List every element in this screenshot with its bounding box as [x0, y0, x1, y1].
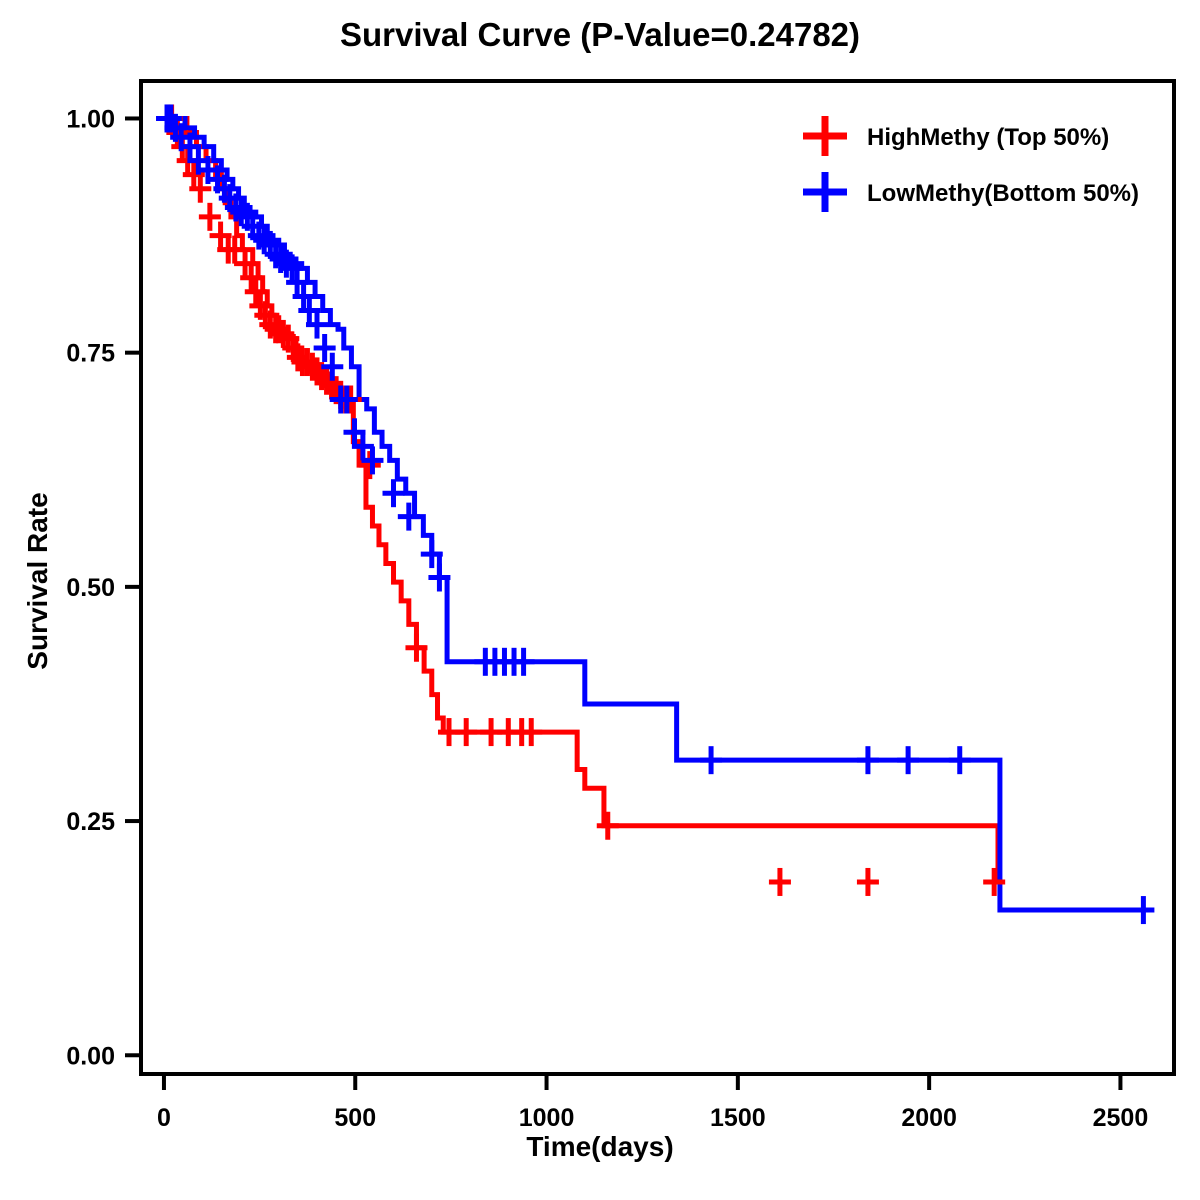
x-tick-label: 1000 — [519, 1104, 575, 1132]
legend-label-1: LowMethy(Bottom 50%) — [867, 180, 1139, 207]
y-axis-ticks: 0.000.250.500.751.00 — [66, 105, 141, 1070]
y-tick-label: 0.50 — [66, 574, 115, 602]
series-line-lowmethy — [164, 118, 1143, 910]
x-tick-label: 2500 — [1093, 1104, 1149, 1132]
censor-marks — [156, 104, 1154, 924]
chart-legend: HighMethy (Top 50%)LowMethy(Bottom 50%) — [803, 116, 1139, 212]
series-line-highmethy — [164, 118, 1000, 881]
x-tick-label: 1500 — [710, 1104, 766, 1132]
y-tick-label: 0.75 — [66, 340, 115, 368]
y-tick-label: 0.25 — [66, 808, 115, 836]
x-tick-label: 500 — [334, 1104, 376, 1132]
plot-frame — [141, 81, 1174, 1074]
x-tick-label: 0 — [157, 1104, 171, 1132]
series-lines — [164, 118, 1143, 910]
plot-area: 05001000150020002500 0.000.250.500.751.0… — [0, 0, 1200, 1200]
x-tick-label: 2000 — [901, 1104, 957, 1132]
legend-label-0: HighMethy (Top 50%) — [867, 124, 1109, 151]
y-tick-label: 0.00 — [66, 1042, 115, 1070]
x-axis-ticks: 05001000150020002500 — [157, 1074, 1148, 1132]
y-tick-label: 1.00 — [66, 105, 115, 133]
axis-frame — [141, 81, 1174, 1074]
survival-chart-figure: Survival Curve (P-Value=0.24782) Surviva… — [0, 0, 1200, 1200]
